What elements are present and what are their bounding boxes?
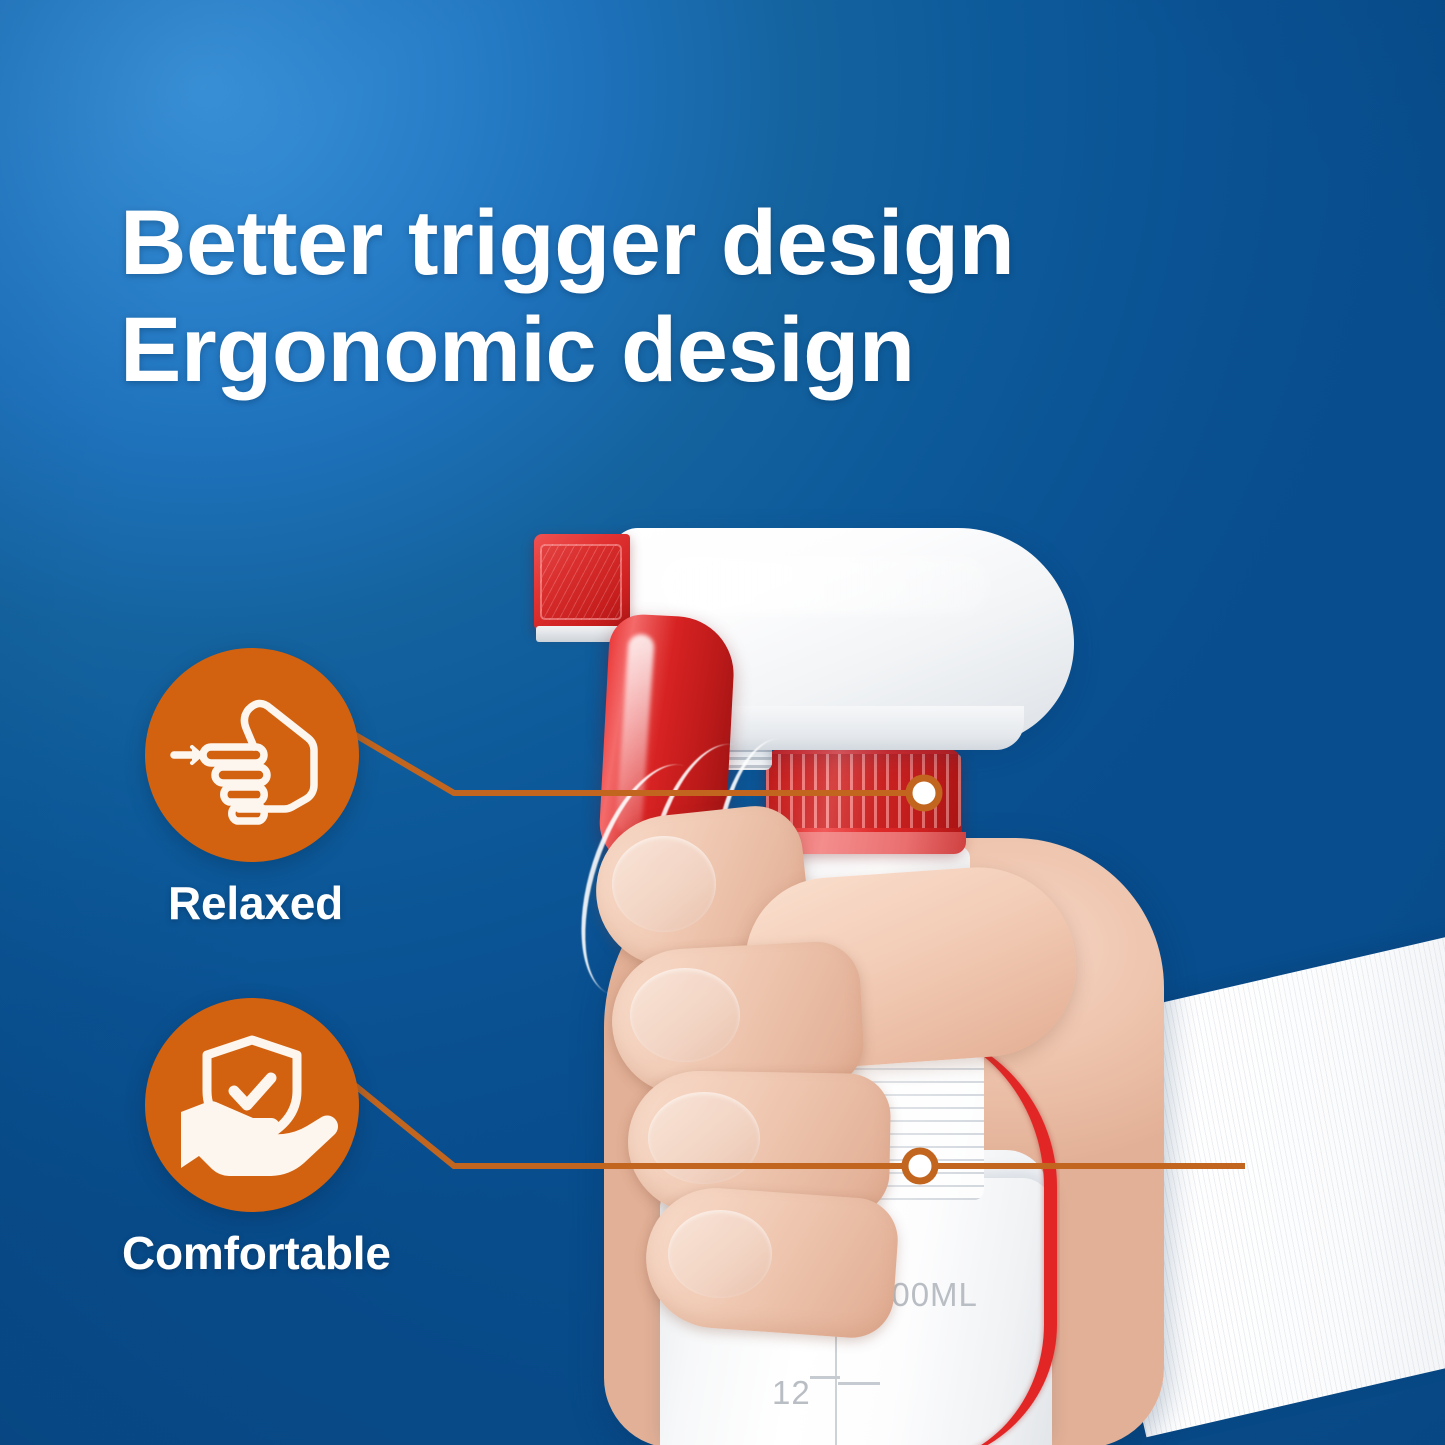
shield-check-in-hand-icon: [145, 998, 359, 1212]
feature-badge-comfortable[interactable]: [145, 998, 359, 1212]
feature-label-relaxed: Relaxed: [168, 876, 343, 930]
open-palm: [181, 1101, 338, 1176]
feature-label-comfortable: Comfortable: [122, 1226, 391, 1280]
headline-line-1: Better trigger design: [120, 190, 1240, 297]
product-feature-image: 14OZ 400ML 12: [0, 0, 1445, 1445]
page-title: Better trigger design Ergonomic design: [120, 190, 1240, 403]
headline-line-2: Ergonomic design: [120, 297, 1240, 404]
pointing-hand-icon: [145, 648, 359, 862]
check-mark: [234, 1078, 271, 1105]
feature-badge-relaxed[interactable]: [145, 648, 359, 862]
